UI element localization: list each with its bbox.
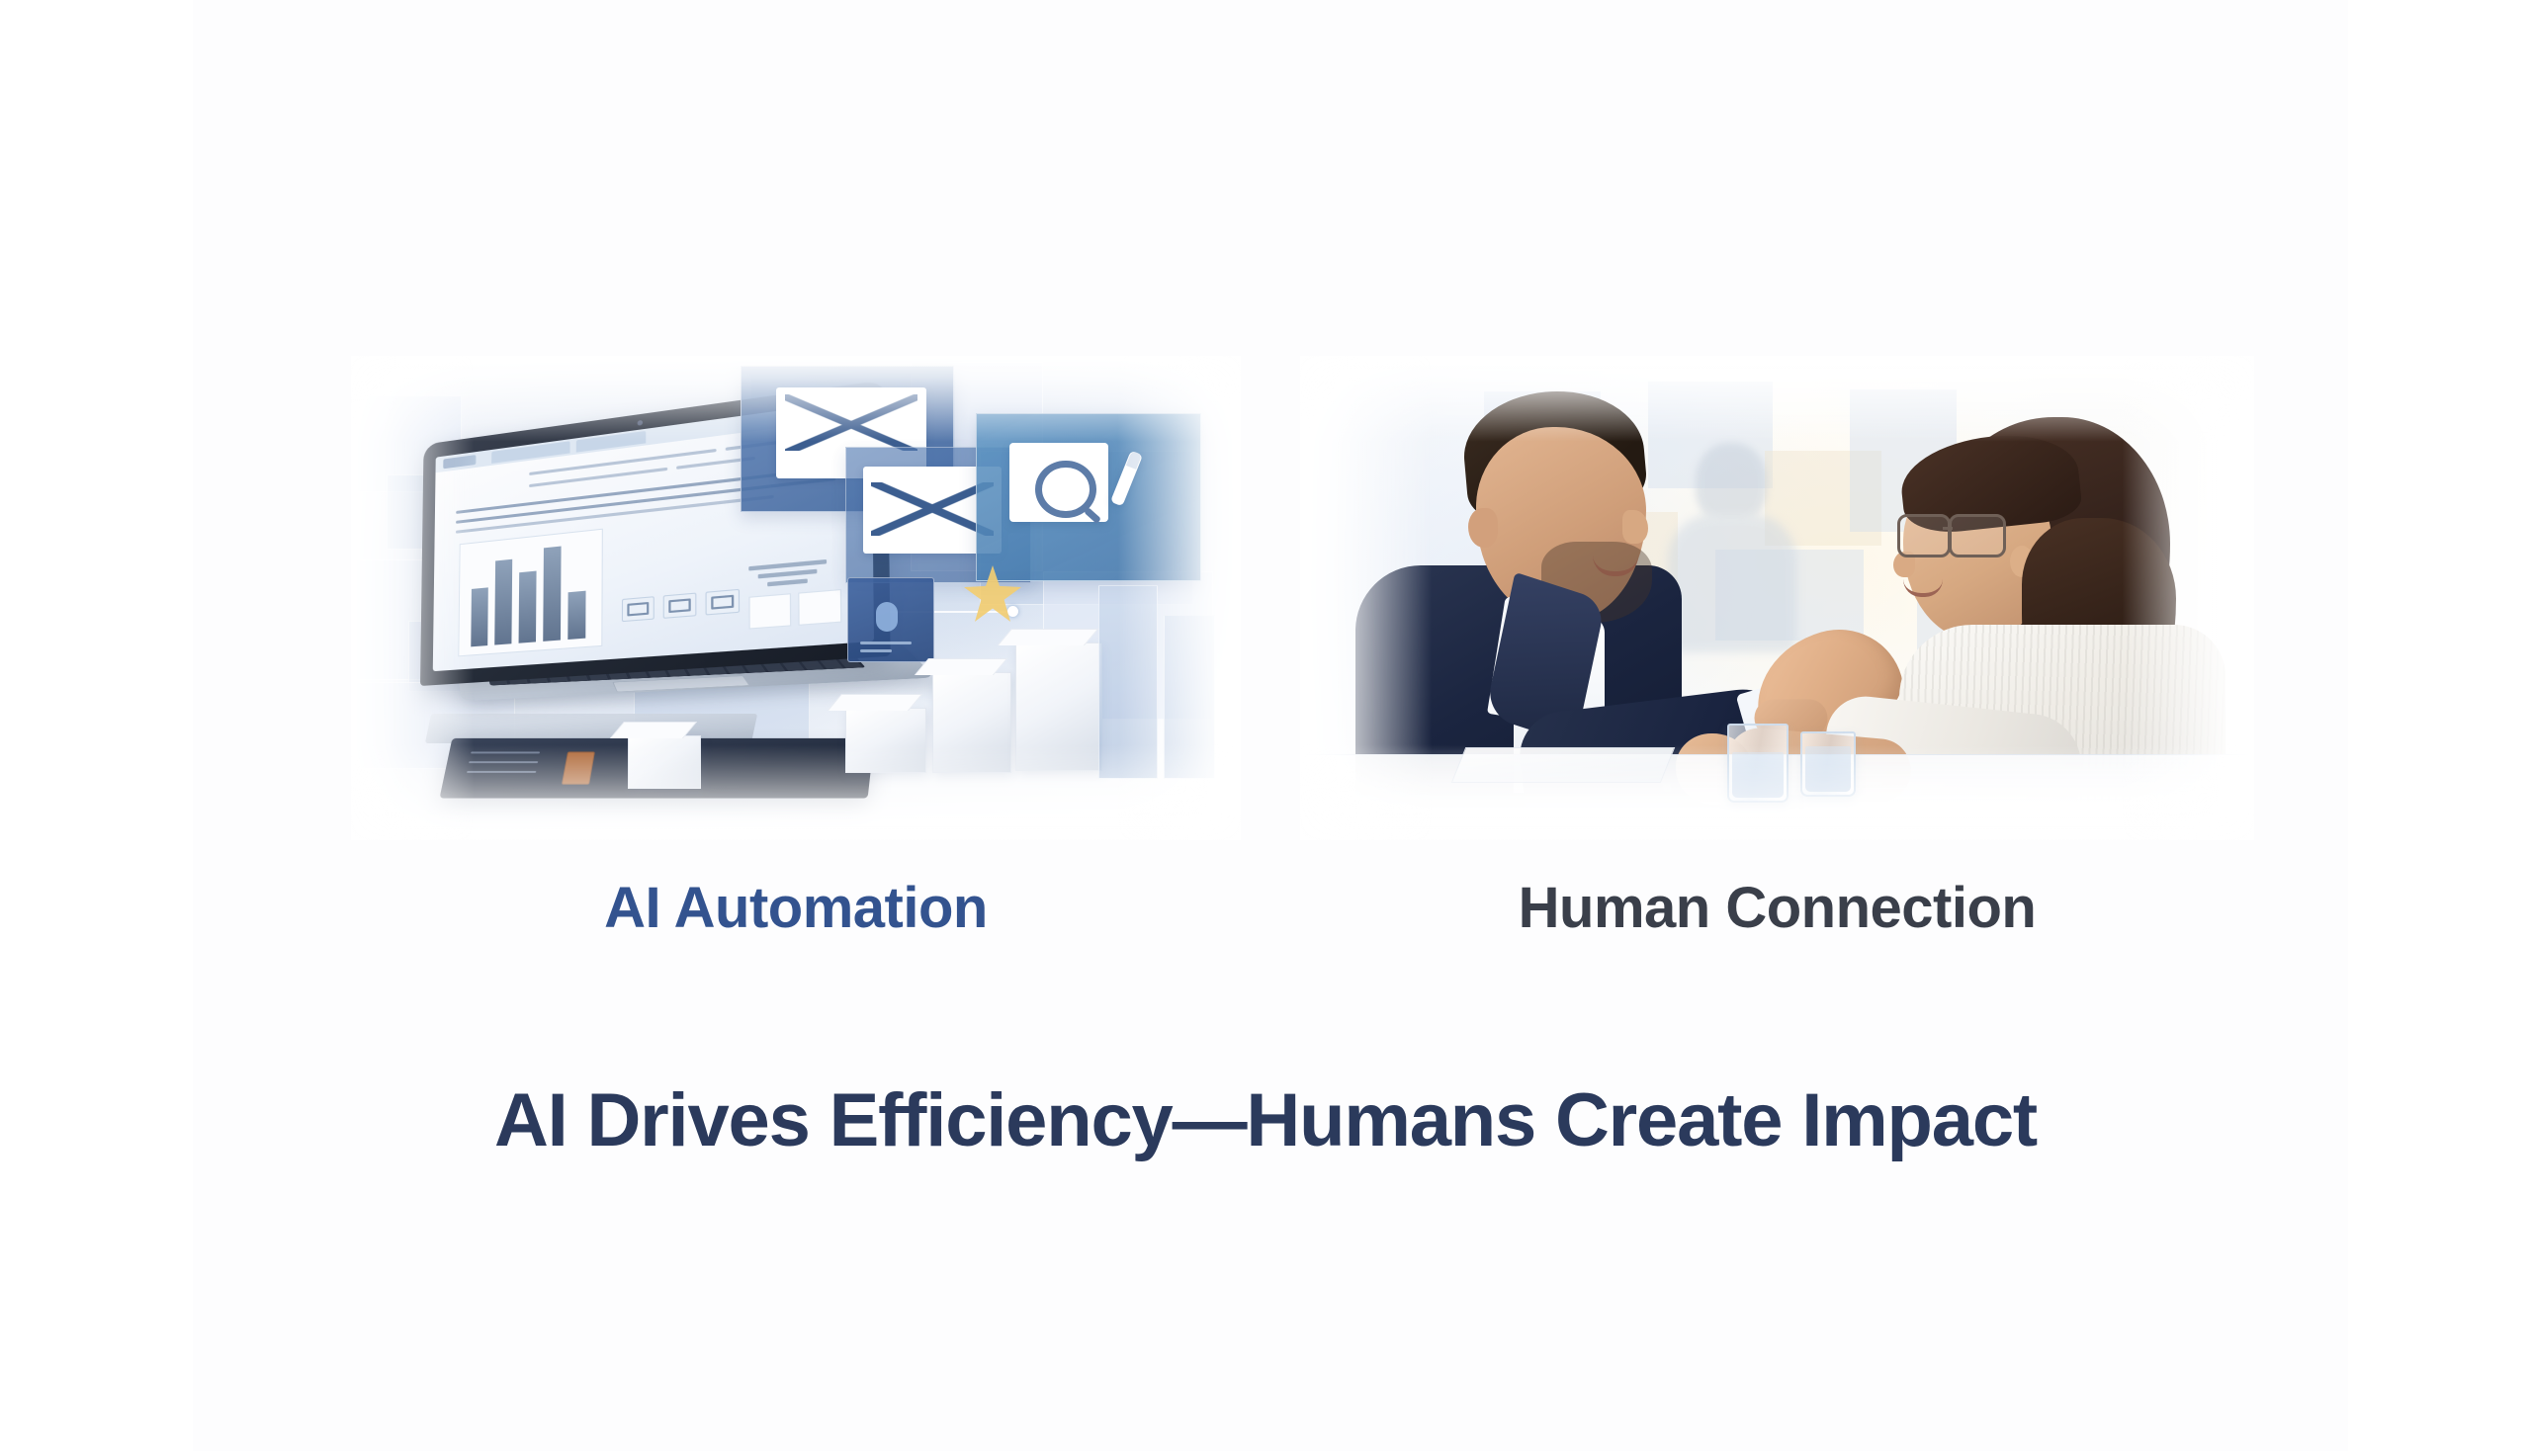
lens-left xyxy=(1897,514,1951,557)
pyramid-row xyxy=(767,578,808,586)
white-cube xyxy=(845,708,926,773)
chart-bar xyxy=(494,559,512,645)
dock-slot xyxy=(562,751,595,784)
network-node xyxy=(1007,606,1018,617)
slide-canvas: AI Automation Human Connection AI Drives… xyxy=(0,0,2531,1456)
man-ear xyxy=(1468,508,1498,548)
white-cube xyxy=(628,735,701,789)
webcam xyxy=(638,420,643,426)
chart-panel xyxy=(458,529,603,657)
chart-bar xyxy=(471,587,488,646)
caption-ai-automation: AI Automation xyxy=(351,875,1241,941)
ai-automation-artwork xyxy=(351,356,1241,840)
magnifier-ring xyxy=(1035,461,1096,519)
caption-human-connection: Human Connection xyxy=(1300,875,2254,941)
dock-line xyxy=(471,751,540,753)
eyeglasses-icon xyxy=(1897,514,2002,554)
metric-tile xyxy=(663,593,697,619)
white-cube xyxy=(1015,642,1102,771)
metric-tile xyxy=(705,589,740,616)
card-line xyxy=(860,649,892,652)
water-glass xyxy=(1727,724,1789,803)
image-row xyxy=(0,356,2531,850)
human-connection-image xyxy=(1300,356,2254,840)
dock-line xyxy=(469,761,538,763)
paper-document xyxy=(1451,747,1676,783)
pyramid-row xyxy=(758,569,818,579)
man-nose xyxy=(1622,510,1648,544)
metric-tile xyxy=(622,596,655,622)
white-cube xyxy=(932,672,1011,773)
chart-bar xyxy=(567,591,585,640)
human-connection-artwork xyxy=(1300,356,2254,840)
dock-line xyxy=(467,771,536,773)
chart-bar xyxy=(543,547,561,642)
lock-card-icon xyxy=(847,577,934,662)
glasses-bridge xyxy=(1943,527,1953,530)
widget-tile xyxy=(798,589,841,626)
lens-right xyxy=(1949,514,2006,557)
widget-tile xyxy=(748,593,791,629)
lock-body xyxy=(876,602,898,632)
water-glass xyxy=(1800,731,1856,797)
glass-slab xyxy=(1098,585,1158,779)
chart-bar xyxy=(519,571,537,643)
glass-slab xyxy=(1164,615,1215,779)
page-headline: AI Drives Efficiency—Humans Create Impac… xyxy=(0,1077,2531,1163)
card-line xyxy=(860,642,912,644)
ai-automation-image xyxy=(351,356,1241,840)
search-icon xyxy=(1009,443,1108,522)
